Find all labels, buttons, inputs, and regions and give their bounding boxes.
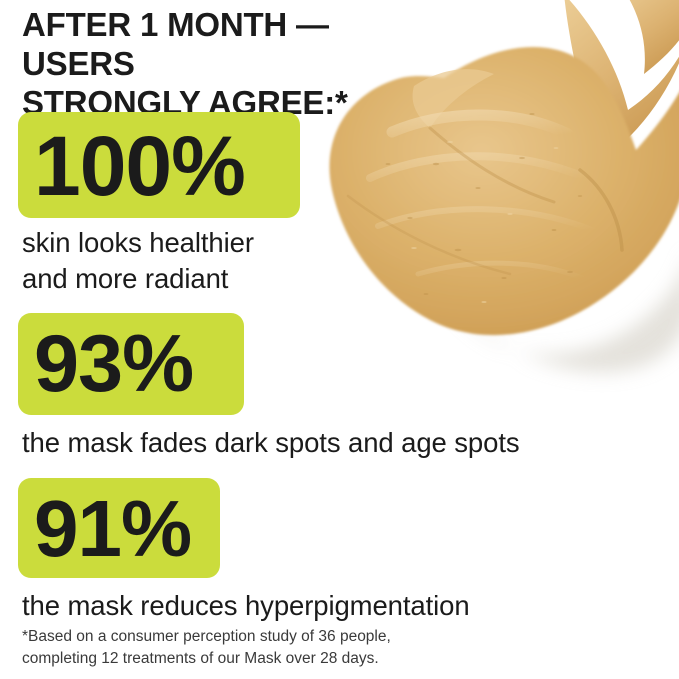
stat-percent-1: 100%	[18, 112, 300, 218]
stat-block-1: 100% skin looks healthier and more radia…	[18, 112, 300, 297]
stat-caption-3: the mask reduces hyperpigmentation	[18, 588, 470, 624]
stat-block-2: 93% the mask fades dark spots and age sp…	[18, 313, 520, 461]
footnote-disclaimer: *Based on a consumer perception study of…	[22, 626, 582, 670]
stat-caption-2: the mask fades dark spots and age spots	[18, 425, 520, 461]
stat-percent-3: 91%	[18, 478, 220, 578]
page-title: AFTER 1 MONTH — USERS STRONGLY AGREE:*	[22, 6, 422, 123]
stat-percent-2: 93%	[18, 313, 244, 415]
stat-caption-1: skin looks healthier and more radiant	[18, 225, 300, 297]
promo-infographic: AFTER 1 MONTH — USERS STRONGLY AGREE:* 1…	[0, 0, 679, 679]
stat-block-3: 91% the mask reduces hyperpigmentation	[18, 478, 470, 624]
